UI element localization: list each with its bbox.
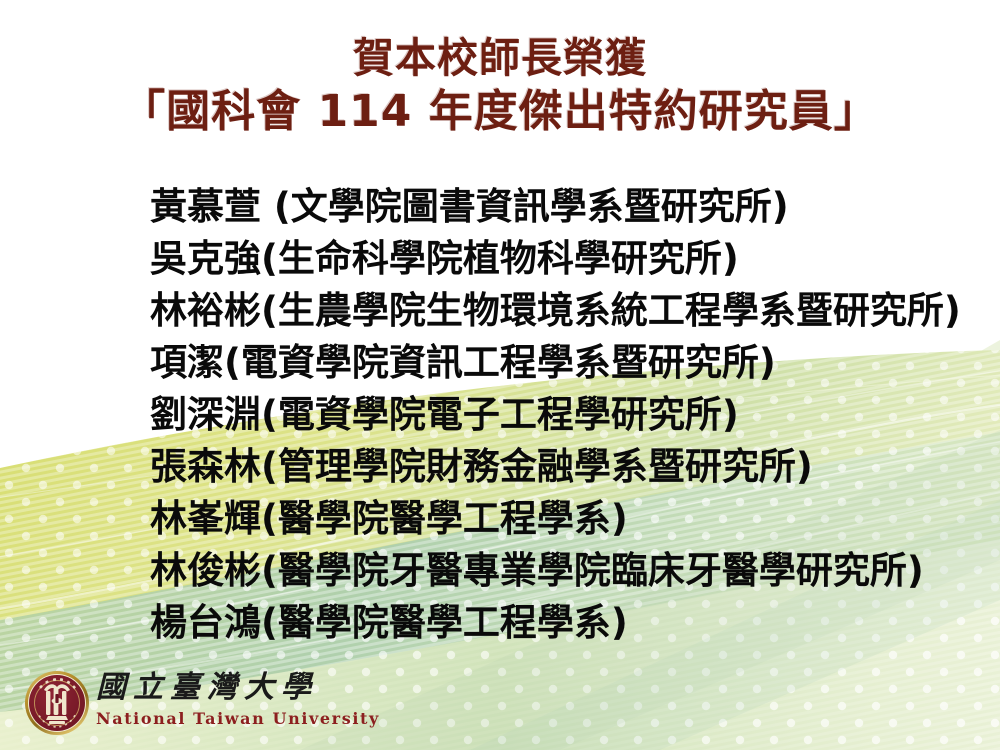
ntu-emblem-icon xyxy=(24,670,90,736)
ntu-name-english: National Taiwan University xyxy=(96,708,304,730)
list-item: 林峯輝(醫學院醫學工程學系) xyxy=(150,493,990,545)
title-line-1: 賀本校師長榮獲 xyxy=(0,34,1000,82)
list-item: 張森林(管理學院財務金融學系暨研究所) xyxy=(150,441,990,493)
ntu-logo: 國立臺灣大學 National Taiwan University xyxy=(24,668,304,742)
title-line-2: 「國科會 114 年度傑出特約研究員」 xyxy=(0,86,1000,138)
list-item: 楊台鴻(醫學院醫學工程學系) xyxy=(150,597,990,649)
list-item: 吳克強(生命科學院植物科學研究所) xyxy=(150,233,990,285)
list-item: 項潔(電資學院資訊工程學系暨研究所) xyxy=(150,337,990,389)
list-item: 劉深淵(電資學院電子工程學研究所) xyxy=(150,389,990,441)
recipient-list: 黃慕萱 (文學院圖書資訊學系暨研究所) 吳克強(生命科學院植物科學研究所) 林裕… xyxy=(150,181,990,649)
slide-canvas: 賀本校師長榮獲 「國科會 114 年度傑出特約研究員」 黃慕萱 (文學院圖書資訊… xyxy=(0,0,1000,750)
list-item: 林俊彬(醫學院牙醫專業學院臨床牙醫學研究所) xyxy=(150,545,990,597)
ntu-name-chinese: 國立臺灣大學 xyxy=(96,668,304,708)
page-title: 賀本校師長榮獲 「國科會 114 年度傑出特約研究員」 xyxy=(0,34,1000,138)
list-item: 黃慕萱 (文學院圖書資訊學系暨研究所) xyxy=(150,181,990,233)
list-item: 林裕彬(生農學院生物環境系統工程學系暨研究所) xyxy=(150,285,990,337)
ntu-wordmark: 國立臺灣大學 National Taiwan University xyxy=(96,668,304,740)
